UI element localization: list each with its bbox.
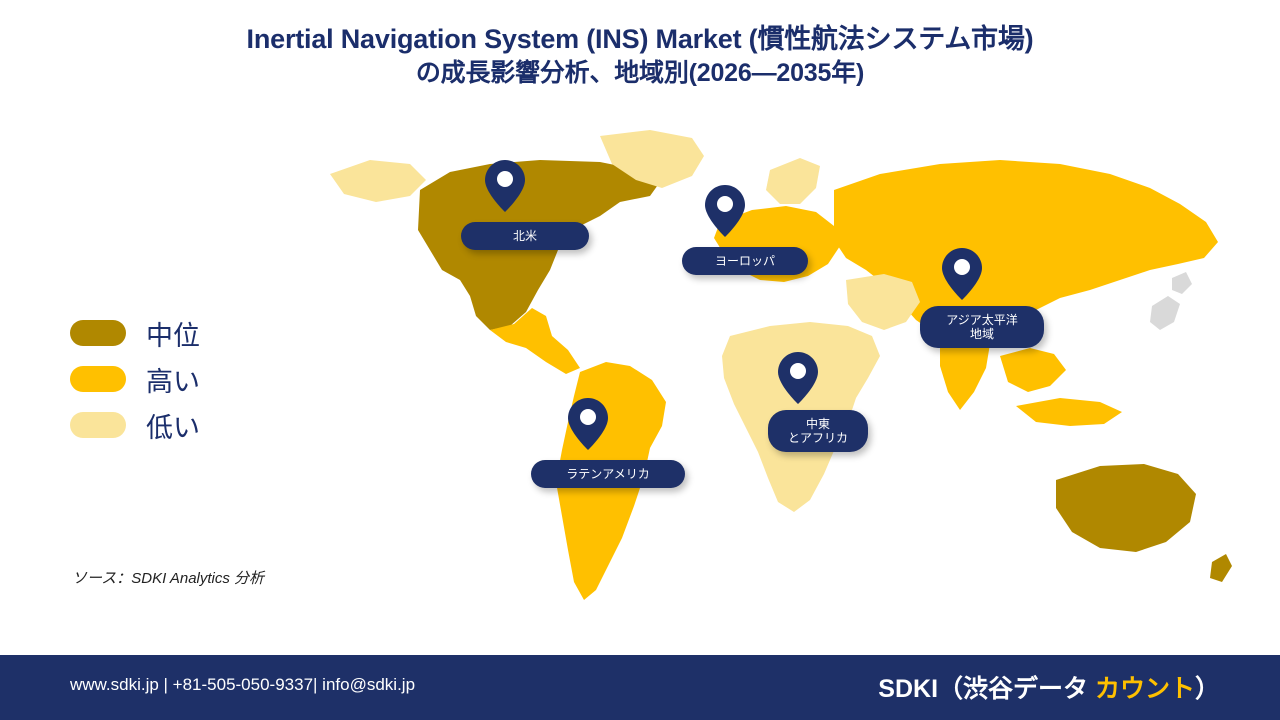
world-map-svg bbox=[300, 130, 1250, 650]
location-pin-icon bbox=[705, 185, 745, 237]
brand-accent: カウント bbox=[1095, 675, 1195, 703]
legend-item-high: 高い bbox=[70, 356, 320, 402]
map-label-asia-pacific: アジア太平洋 地域 bbox=[920, 306, 1044, 348]
map-label-north-america: 北米 bbox=[461, 222, 589, 250]
location-pin-icon bbox=[568, 398, 608, 450]
region-alaska bbox=[330, 160, 426, 202]
legend-item-low: 低い bbox=[70, 402, 320, 448]
location-pin-icon bbox=[942, 248, 982, 300]
footer-contact: www.sdki.jp | +81-505-050-9337| info@sdk… bbox=[70, 675, 415, 695]
location-pin-icon bbox=[778, 352, 818, 404]
region-indonesia bbox=[1016, 398, 1122, 426]
region-new-zealand bbox=[1210, 554, 1232, 582]
world-map: 北米 ヨーロッパ アジア太平洋 地域 中東 とアフリカ ラテンアメリカ bbox=[300, 130, 1250, 650]
footer-bar: www.sdki.jp | +81-505-050-9337| info@sdk… bbox=[0, 655, 1280, 720]
footer-brand: SDKI（渋谷データ カウント） bbox=[878, 669, 1220, 705]
page-title: Inertial Navigation System (INS) Market … bbox=[0, 22, 1280, 90]
map-label-middle-east-africa: 中東 とアフリカ bbox=[768, 410, 868, 452]
legend-label-high: 高い bbox=[146, 360, 200, 399]
title-line-2: の成長影響分析、地域別(2026—2035年) bbox=[0, 56, 1280, 90]
title-line-1: Inertial Navigation System (INS) Market … bbox=[0, 22, 1280, 56]
region-japan bbox=[1150, 296, 1180, 330]
region-australia bbox=[1056, 464, 1196, 552]
brand-main: SDKI（渋谷データ bbox=[878, 675, 1095, 703]
region-southeast-asia bbox=[1000, 348, 1066, 392]
source-note: ソース：SDKI Analytics 分析 bbox=[72, 567, 264, 588]
legend-swatch-low bbox=[70, 412, 126, 438]
region-middle-east bbox=[846, 274, 920, 330]
legend-swatch-medium bbox=[70, 320, 126, 346]
legend-label-low: 低い bbox=[146, 406, 200, 445]
legend-swatch-high bbox=[70, 366, 126, 392]
region-scandinavia bbox=[766, 158, 820, 204]
map-label-latin-america: ラテンアメリカ bbox=[531, 460, 685, 488]
legend-item-medium: 中位 bbox=[70, 310, 320, 356]
legend-label-medium: 中位 bbox=[146, 314, 200, 353]
location-pin-icon bbox=[485, 160, 525, 212]
legend: 中位 高い 低い bbox=[70, 310, 320, 448]
map-label-europe: ヨーロッパ bbox=[682, 247, 808, 275]
region-japan-north bbox=[1172, 272, 1192, 294]
brand-tail: ） bbox=[1195, 675, 1220, 703]
